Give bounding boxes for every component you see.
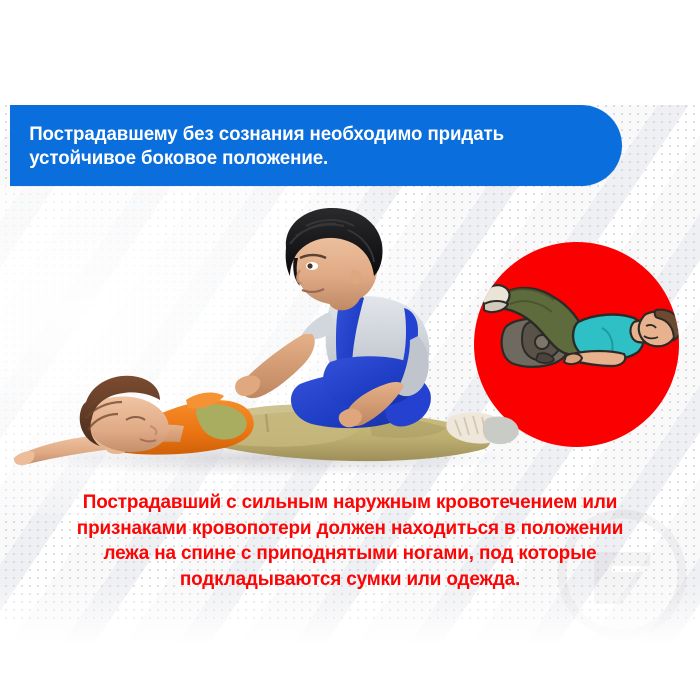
inset-shoe-lower (484, 301, 508, 312)
rescuer-pupil (307, 263, 312, 268)
rescuer-figure (235, 208, 431, 428)
victim-head (80, 376, 169, 452)
top-white-fade (0, 0, 700, 105)
bottom-red-caption: Пострадавший с сильным наружным кровотеч… (11, 490, 690, 592)
top-blue-banner: Пострадавшему без сознания необходимо пр… (10, 105, 622, 186)
rescuer-head (286, 208, 383, 305)
banner-text: Пострадавшему без сознания необходимо пр… (10, 122, 571, 170)
inset-hand (564, 354, 582, 365)
first-aid-poster: Пострадавшему без сознания необходимо пр… (0, 0, 700, 700)
inset-clip-group (482, 285, 679, 367)
bottom-white-fade (0, 580, 700, 700)
inset-illustration (474, 242, 679, 447)
